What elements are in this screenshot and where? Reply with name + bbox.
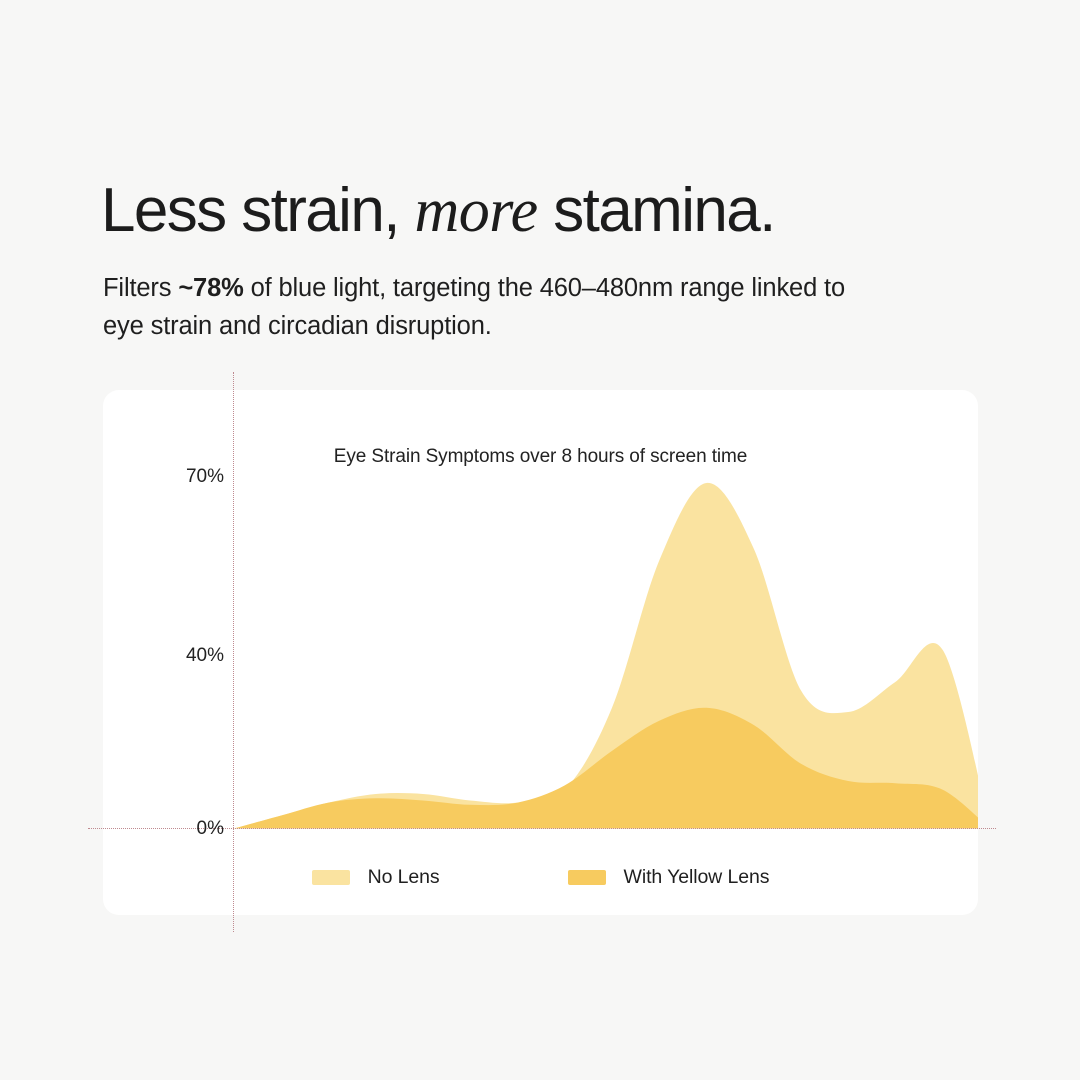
legend-swatch-with-lens [568, 870, 606, 885]
legend-item-no-lens[interactable]: No Lens [312, 866, 440, 889]
y-axis-tick-labels: 0%40%70% [0, 0, 1080, 1080]
legend-label-with-lens: With Yellow Lens [624, 866, 770, 889]
y-axis-tick-70pct: 70% [0, 466, 224, 488]
legend-swatch-no-lens [312, 870, 350, 885]
promo-card: Less strain, more stamina. Filters ~78% … [0, 0, 1080, 1080]
y-axis-tick-40pct: 40% [0, 645, 224, 667]
chart-legend: No Lens With Yellow Lens [103, 866, 978, 889]
legend-item-with-lens[interactable]: With Yellow Lens [568, 866, 770, 889]
y-axis-tick-0pct: 0% [0, 818, 224, 840]
legend-label-no-lens: No Lens [368, 866, 440, 889]
